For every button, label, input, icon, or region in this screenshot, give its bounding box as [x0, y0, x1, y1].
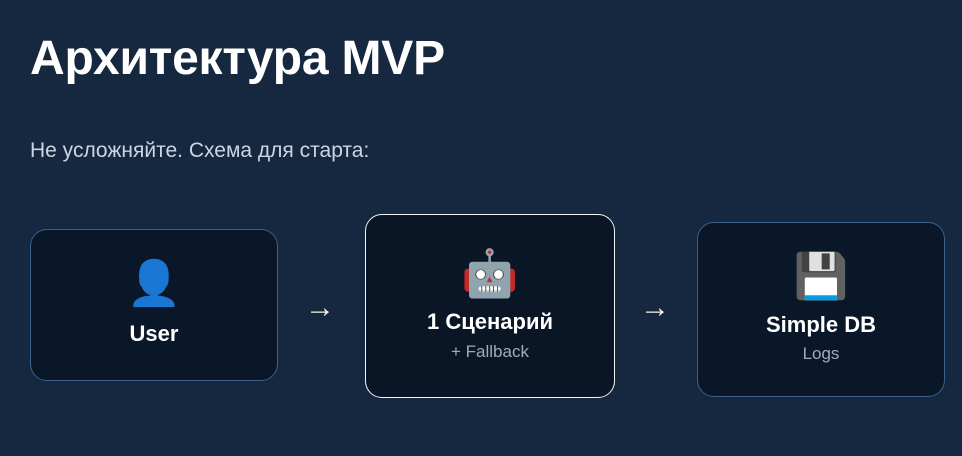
flow-card-database[interactable]: 💾 Simple DB Logs — [697, 222, 945, 397]
arrow-right-icon: → — [297, 293, 343, 323]
page-title: Архитектура MVP — [30, 33, 445, 85]
slide-root: Архитектура MVP Не усложняйте. Схема для… — [0, 0, 962, 456]
flow-card-user[interactable]: 👤 User — [30, 229, 278, 381]
flow-card-scenario-title: 1 Сценарий — [427, 308, 553, 336]
architecture-flow-diagram: 👤 User → 🤖 1 Сценарий + Fallback → 💾 Sim… — [0, 205, 962, 410]
page-subtitle: Не усложняйте. Схема для старта: — [30, 138, 369, 163]
flow-card-database-title: Simple DB — [766, 311, 876, 339]
flow-card-scenario-subtitle: + Fallback — [451, 341, 529, 362]
flow-card-user-title: User — [130, 320, 179, 348]
arrow-right-icon: → — [632, 293, 678, 323]
floppy-disk-icon: 💾 — [794, 255, 849, 299]
flow-card-scenario[interactable]: 🤖 1 Сценарий + Fallback — [365, 214, 615, 398]
robot-icon: 🤖 — [461, 250, 518, 296]
bust-in-silhouette-icon: 👤 — [127, 262, 182, 306]
flow-card-database-subtitle: Logs — [803, 343, 840, 364]
